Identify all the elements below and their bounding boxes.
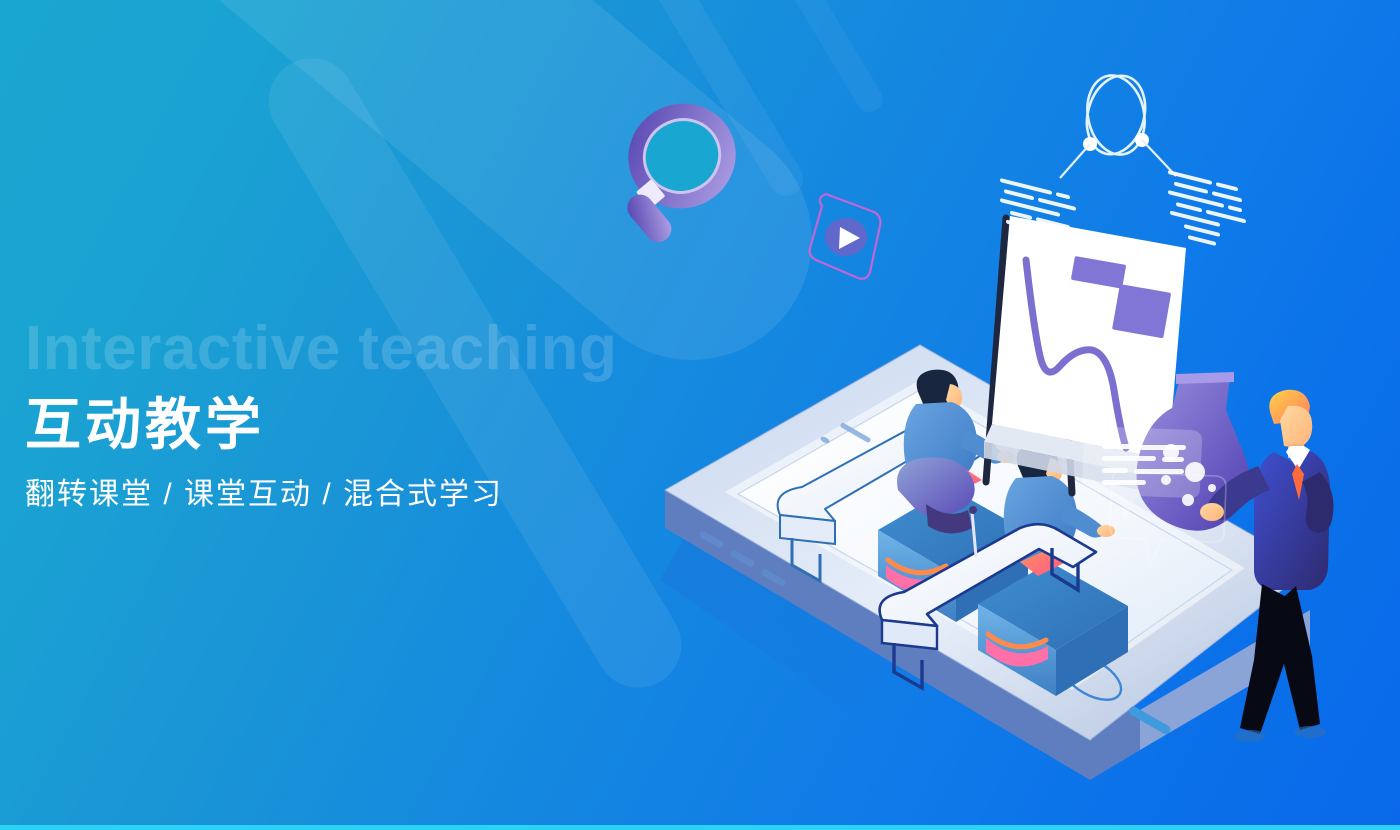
interactive-teaching-banner: Interactive teaching 互动教学 翻转课堂 / 课堂互动 / … — [0, 0, 1400, 830]
page-title: 互动教学 — [25, 396, 785, 455]
banner-copy: Interactive teaching 互动教学 翻转课堂 / 课堂互动 / … — [25, 318, 785, 513]
bottom-accent-bar — [0, 825, 1400, 830]
play-video-icon[interactable] — [810, 194, 881, 279]
page-subtitle: 翻转课堂 / 课堂互动 / 混合式学习 — [25, 477, 785, 513]
atom-orbit-icon — [1060, 69, 1176, 178]
text-lines-right — [1168, 170, 1246, 253]
ghost-title: Interactive teaching — [25, 318, 785, 380]
magnifier-icon — [611, 86, 753, 247]
board-block-2 — [1112, 284, 1171, 338]
